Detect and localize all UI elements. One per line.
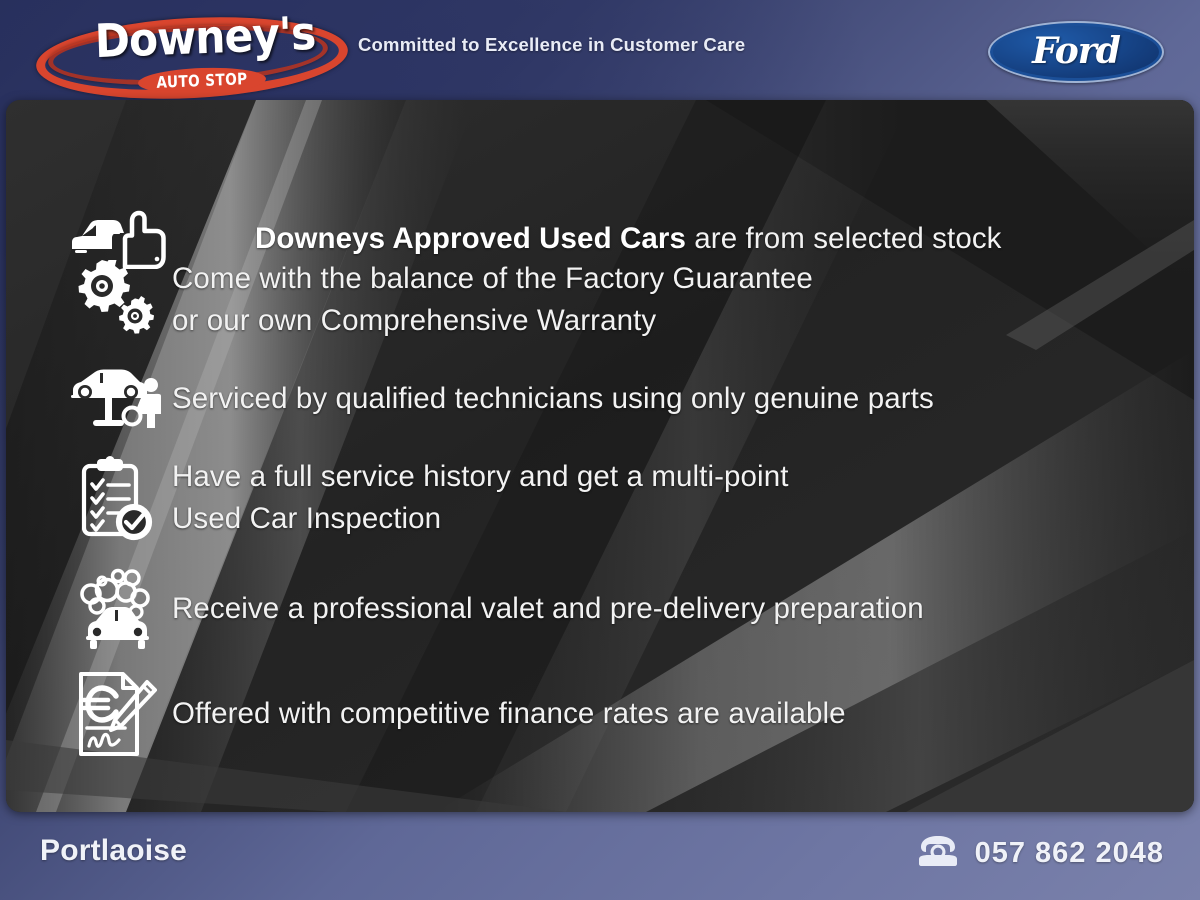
benefit-text-block: Have a full service history and get a mu… — [172, 456, 789, 540]
footer-bar: Portlaoise 057 862 2048 — [0, 812, 1200, 900]
benefits-panel: Downeys Approved Used Cars are from sele… — [6, 100, 1194, 812]
phone-number: 057 862 2048 — [975, 837, 1164, 870]
benefit-text: Serviced by qualified technicians using … — [172, 378, 934, 420]
ford-logo-text: Ford — [990, 23, 1162, 81]
benefit-text-lead: Downeys Approved Used Cars — [255, 222, 686, 255]
dealer-location: Portlaoise — [40, 834, 187, 868]
ford-oval-logo[interactable]: Ford — [988, 21, 1164, 83]
benefit-text: Receive a professional valet and pre-del… — [172, 588, 924, 630]
car-lift-technician-icon — [64, 368, 172, 430]
contact-phone[interactable]: 057 862 2048 — [917, 836, 1164, 871]
benefit-row: Offered with competitive finance rates a… — [64, 670, 846, 758]
benefit-text-rest: are from selected stock — [686, 222, 1002, 255]
advert-page: Downey's AUTO STOP Committed to Excellen… — [0, 0, 1200, 900]
benefit-row: Have a full service history and get a mu… — [64, 456, 789, 542]
benefit-text-block: Come with the balance of the Factory Gua… — [172, 258, 813, 342]
logo-brand-name: Downey's — [89, 7, 321, 68]
benefits-list: Downeys Approved Used Cars are from sele… — [6, 100, 1194, 812]
benefit-text: Have a full service history and get a mu… — [172, 456, 789, 498]
benefit-row: Receive a professional valet and pre-del… — [64, 568, 924, 650]
benefit-text-line2: or our own Comprehensive Warranty — [172, 300, 813, 342]
benefit-text: Come with the balance of the Factory Gua… — [172, 258, 813, 300]
benefit-row: Serviced by qualified technicians using … — [64, 368, 934, 430]
telephone-icon — [917, 836, 959, 871]
benefit-text: Offered with competitive finance rates a… — [172, 693, 846, 735]
benefit-text-line2: Used Car Inspection — [172, 498, 789, 540]
clipboard-checklist-icon — [64, 456, 172, 542]
gears-icon — [64, 258, 172, 342]
header-tagline: Committed to Excellence in Customer Care — [358, 34, 745, 56]
benefit-row: Come with the balance of the Factory Gua… — [64, 258, 813, 342]
car-wash-icon — [64, 568, 172, 650]
header-bar: Downey's AUTO STOP Committed to Excellen… — [0, 0, 1200, 100]
euro-document-signature-icon — [64, 670, 172, 758]
downeys-auto-stop-logo[interactable]: Downey's AUTO STOP — [28, 4, 338, 96]
logo-sub-text: AUTO STOP — [147, 68, 256, 94]
